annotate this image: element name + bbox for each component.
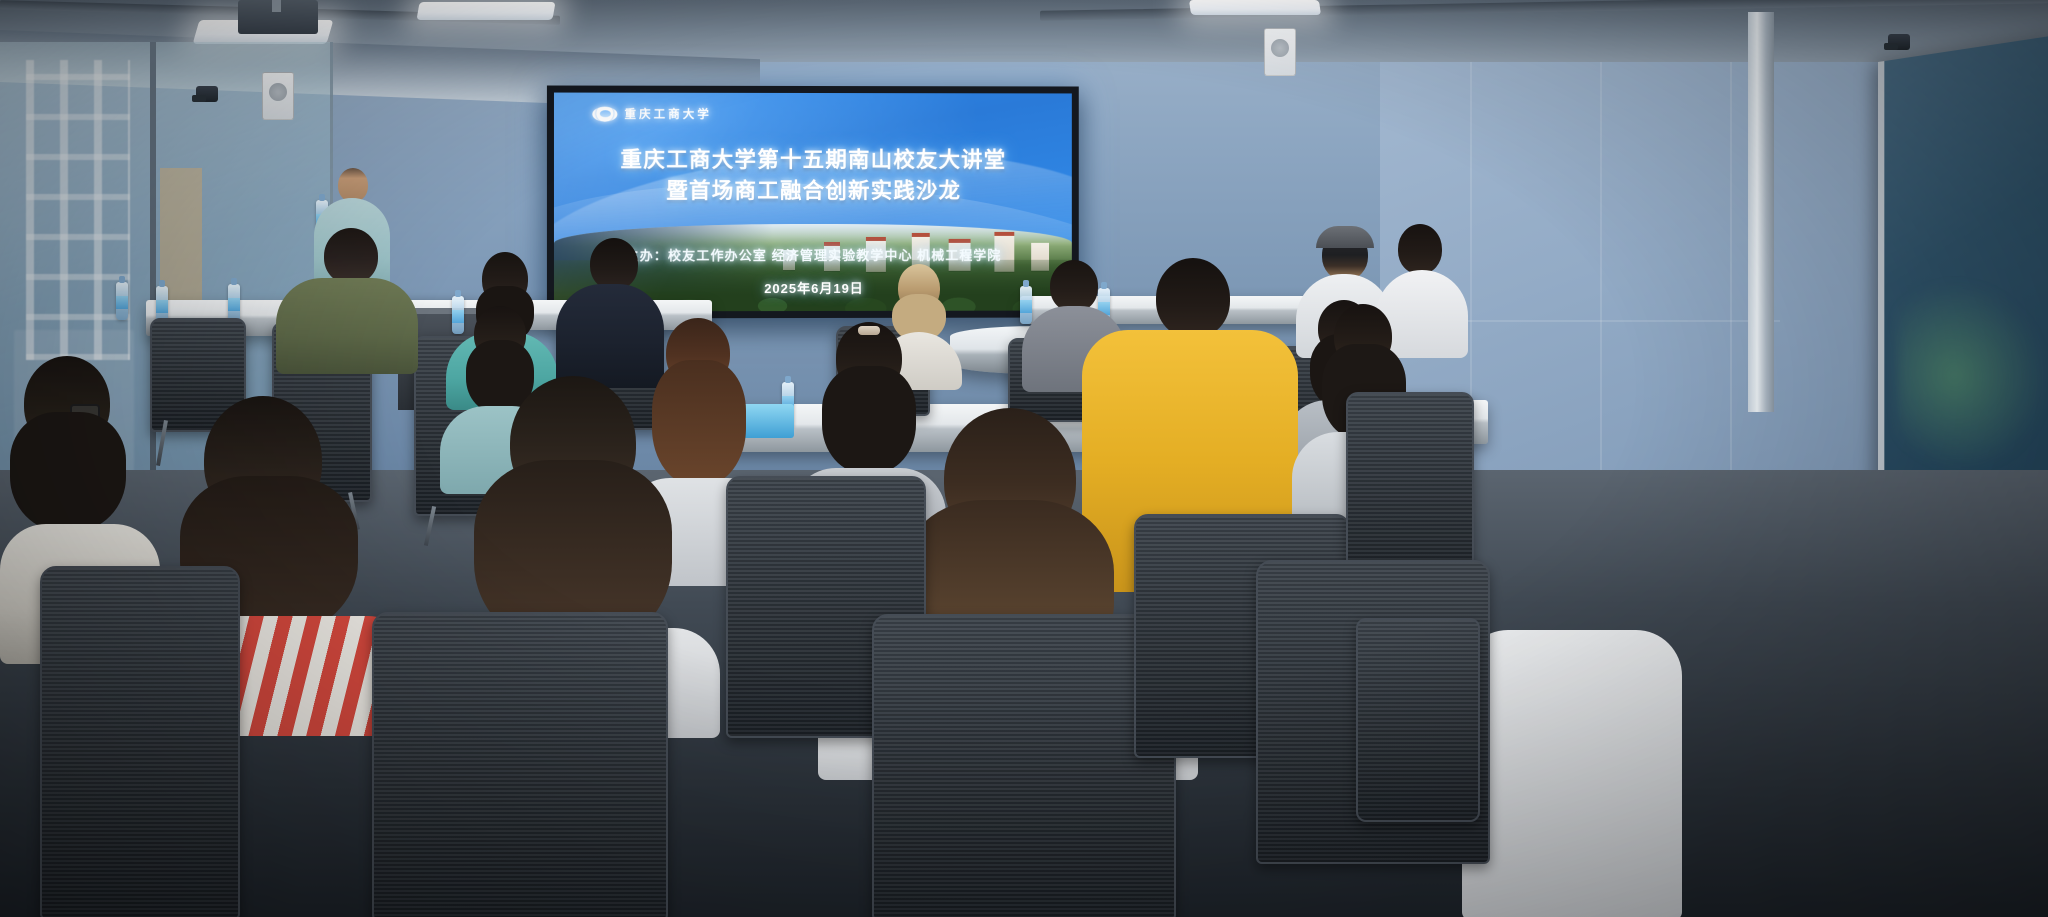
wall-speaker-right <box>1264 28 1296 76</box>
ceiling-light <box>1189 0 1321 15</box>
water-bottle <box>116 282 128 320</box>
dome-camera-right-icon <box>1888 34 1910 50</box>
campus-roof <box>866 237 886 241</box>
person-head <box>324 228 378 284</box>
campus-roof <box>948 239 970 243</box>
audience-person-partial <box>1462 590 1682 917</box>
slide-title: 重庆工商大学第十五期南山校友大讲堂 暨首场商工融合创新实践沙龙 <box>554 145 1072 208</box>
bottle-label <box>156 300 168 313</box>
wall-seam <box>1730 20 1732 490</box>
audience-person <box>276 228 418 368</box>
person-head <box>1398 224 1442 274</box>
university-logo: 重庆工商大学 <box>592 106 712 122</box>
bottle-label <box>116 296 128 309</box>
wall-seam <box>1600 20 1602 490</box>
dome-camera-icon <box>196 86 218 102</box>
chair-front-right <box>872 614 1176 917</box>
photograph-scene: 重庆工商大学 重庆工商大学第十五期南山校友大讲堂 暨首场商工融合创新实践沙龙 主… <box>0 0 2048 917</box>
chair-corner <box>1356 618 1480 822</box>
slide-title-line1: 重庆工商大学第十五期南山校友大讲堂 <box>620 148 1006 172</box>
metal-pillar <box>1748 12 1774 412</box>
person-body <box>1462 630 1682 917</box>
campus-roof <box>912 233 930 237</box>
slide-title-line2: 暨首场商工融合创新实践沙龙 <box>554 176 1072 208</box>
ceiling-light <box>416 2 555 20</box>
cap-icon <box>1316 226 1374 248</box>
display-glow <box>1897 280 2048 480</box>
chair-front-center <box>372 612 668 917</box>
hair-clip-icon <box>858 326 880 335</box>
bottle-label <box>228 298 240 311</box>
water-bottle <box>228 284 240 322</box>
window-reflection <box>26 60 130 360</box>
university-crest-icon <box>592 106 617 121</box>
person-head <box>338 168 368 202</box>
person-head <box>1156 258 1230 338</box>
person-hair <box>10 412 126 532</box>
person-head <box>590 238 638 290</box>
chair-front-left <box>40 566 240 917</box>
campus-roof <box>995 232 1015 236</box>
projector-mount <box>272 0 281 12</box>
university-logo-text: 重庆工商大学 <box>624 106 711 122</box>
person-body <box>276 278 418 374</box>
wall-speaker-left <box>262 72 294 120</box>
